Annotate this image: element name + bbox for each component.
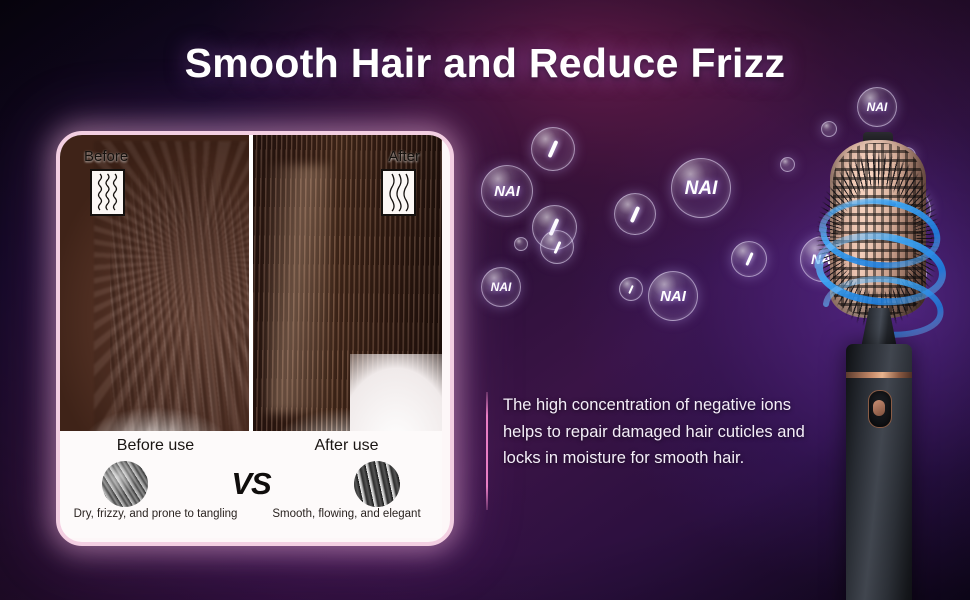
before-use-heading: Before use xyxy=(60,437,251,455)
description-text: The high concentration of negative ions … xyxy=(503,392,816,510)
ion-tick-icon xyxy=(553,240,561,253)
ion-bubble-nai: NAI xyxy=(857,87,897,127)
after-use-heading: After use xyxy=(251,437,442,455)
copper-accent-ring xyxy=(846,372,912,378)
after-label: After xyxy=(388,148,420,165)
ion-label: NAI xyxy=(685,179,718,198)
ion-bubble-nai: NAI xyxy=(481,165,533,217)
ion-tick-icon xyxy=(548,140,559,158)
ion-bubble-nai: NAI xyxy=(648,271,698,321)
frizzy-hair-texture-icon xyxy=(90,169,125,216)
smooth-hair-texture-icon xyxy=(381,169,416,216)
frizzy-hair-thumbnail xyxy=(102,461,148,507)
before-after-card: Before After Before use After xyxy=(56,131,454,546)
ion-label: NAI xyxy=(491,281,512,293)
ion-bubble-small xyxy=(731,241,767,277)
ion-tick-icon xyxy=(628,284,633,293)
hair-photo-pair: Before After xyxy=(60,135,442,431)
hair-dryer-brush-device: OUDIH xyxy=(806,140,956,570)
device-handle xyxy=(846,344,912,600)
ion-bubble-small xyxy=(821,121,837,137)
ion-bubble-small xyxy=(780,157,795,172)
promo-banner: Smooth Hair and Reduce Frizz Before xyxy=(0,0,970,600)
photo-divider xyxy=(249,135,253,431)
shoulder-shape xyxy=(350,354,442,431)
versus-label: VS xyxy=(231,466,270,502)
ion-label: NAI xyxy=(494,184,520,199)
ion-bubble-nai: NAI xyxy=(671,158,731,218)
ion-bubble-small xyxy=(614,193,656,235)
before-use-caption: Dry, frizzy, and prone to tangling xyxy=(60,507,251,522)
smooth-hair-thumbnail xyxy=(354,461,400,507)
ion-bubble-small xyxy=(531,127,575,171)
description-block: The high concentration of negative ions … xyxy=(486,392,816,510)
usage-headings: Before use After use xyxy=(60,437,442,455)
before-label: Before xyxy=(84,148,128,165)
ion-bubble-small xyxy=(514,237,528,251)
hair-shine-highlight xyxy=(266,165,331,414)
ion-bubble-small xyxy=(619,277,643,301)
after-use-caption: Smooth, flowing, and elegant xyxy=(251,507,442,522)
ion-label: NAI xyxy=(867,101,888,113)
usage-thumbnails-row: VS xyxy=(60,461,442,507)
brush-bristles xyxy=(814,146,942,326)
usage-comparison-strip: Before use After use VS Dry, frizzy, and… xyxy=(60,431,442,538)
before-hair-photo xyxy=(60,135,251,431)
ion-tick-icon xyxy=(745,252,753,266)
usage-captions: Dry, frizzy, and prone to tangling Smoot… xyxy=(60,507,442,522)
power-button[interactable] xyxy=(868,390,892,428)
ion-bubble-nai: NAI xyxy=(481,267,521,307)
page-title: Smooth Hair and Reduce Frizz xyxy=(0,40,970,87)
ion-bubble-small xyxy=(540,230,574,264)
ion-tick-icon xyxy=(630,205,641,222)
ion-label: NAI xyxy=(660,289,686,304)
accent-bar xyxy=(486,392,488,510)
